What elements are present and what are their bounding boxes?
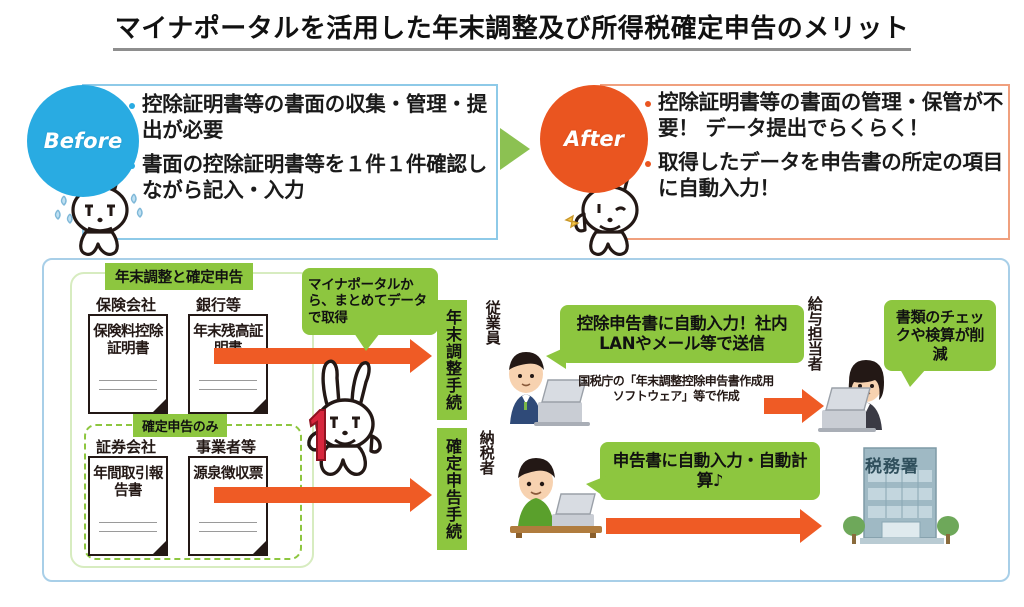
bubble-taxpayer: 申告書に自動入力・自動計算♪ bbox=[600, 442, 820, 500]
doc-lines bbox=[99, 514, 157, 532]
after-bullet-list: 控除証明書等の書面の管理・保管が不要！ データ提出でらくらく！ 取得したデータを… bbox=[644, 90, 1010, 211]
arrow-head-icon bbox=[800, 509, 822, 543]
note-nta-software: 国税庁の「年末調整控除申告書作成用ソフトウェア」等で作成 bbox=[578, 374, 774, 404]
bubble-payroll: 書類のチェックや検算が削減 bbox=[884, 300, 996, 371]
before-bullet-2: 書面の控除証明書等を１件１件確認しながら記入・入力 bbox=[128, 152, 500, 203]
document-withholding-slip-title: 源泉徴収票 bbox=[193, 466, 263, 482]
after-bullet-2: 取得したデータを申告書の所定の項目に自動入力！ bbox=[644, 150, 1010, 201]
doc-source-insurance: 保険会社 bbox=[96, 294, 156, 315]
taxpayer-illustration bbox=[496, 458, 606, 538]
before-badge: Before bbox=[27, 85, 139, 197]
track-label-final-return: 確定申告手続 bbox=[437, 428, 467, 550]
tax-office-label: 税務署 bbox=[846, 452, 938, 477]
track-label-year-end: 年末調整手続 bbox=[437, 300, 467, 420]
arrow-head-icon bbox=[410, 478, 432, 512]
doc-source-bank: 銀行等 bbox=[196, 294, 241, 315]
document-year-end-balance: 年末残高証明書 bbox=[188, 314, 268, 414]
bubble-tail bbox=[900, 369, 926, 387]
document-annual-transaction-report-title: 年間取引報告書 bbox=[93, 466, 163, 499]
rabbit-mascot-center-icon bbox=[292, 352, 396, 480]
doc-source-business: 事業者等 bbox=[196, 436, 256, 457]
doc-fold-icon bbox=[151, 397, 168, 414]
bubble-taxpayer-text: 申告書に自動入力・自動計算♪ bbox=[613, 451, 807, 490]
bubble-payroll-text: 書類のチェックや検算が削減 bbox=[896, 308, 984, 363]
bubble-tail bbox=[546, 347, 566, 369]
badge-final-return-only: 確定申告のみ bbox=[133, 414, 227, 437]
before-bullet-list: 控除証明書等の書面の収集・管理・提出が必要 書面の控除証明書等を１件１件確認しな… bbox=[128, 92, 500, 213]
arrow-bar bbox=[606, 518, 800, 534]
document-withholding-slip: 源泉徴収票 bbox=[188, 456, 268, 556]
document-insurance-deduction: 保険料控除証明書 bbox=[88, 314, 168, 414]
bubble-tail bbox=[586, 476, 606, 498]
arrow-bar bbox=[764, 398, 802, 414]
doc-lines bbox=[199, 514, 257, 532]
badge-year-end-and-final: 年末調整と確定申告 bbox=[105, 263, 253, 290]
doc-lines bbox=[199, 372, 257, 390]
role-label-taxpayer: 納税者 bbox=[478, 430, 494, 488]
bubble-employee-text: 控除申告書に自動入力！社内LANやメール等で送信 bbox=[577, 314, 788, 353]
bubble-tail bbox=[354, 333, 380, 351]
doc-fold-icon bbox=[251, 397, 268, 414]
role-label-employee: 従業員 bbox=[484, 300, 500, 358]
document-annual-transaction-report: 年間取引報告書 bbox=[88, 456, 168, 556]
doc-source-securities: 証券会社 bbox=[96, 436, 156, 457]
bubble-myna-portal: マイナポータルから、まとめてデータで取得 bbox=[302, 268, 438, 335]
bubble-myna-portal-text: マイナポータルから、まとめてデータで取得 bbox=[308, 277, 427, 326]
before-bullet-1: 控除証明書等の書面の収集・管理・提出が必要 bbox=[128, 92, 500, 143]
transition-arrow-icon bbox=[500, 128, 530, 170]
arrow-head-icon bbox=[410, 339, 432, 373]
bubble-employee: 控除申告書に自動入力！社内LANやメール等で送信 bbox=[560, 305, 804, 363]
document-insurance-deduction-title: 保険料控除証明書 bbox=[93, 324, 163, 357]
doc-fold-icon bbox=[151, 539, 168, 556]
doc-lines bbox=[99, 372, 157, 390]
page-title: マイナポータルを活用した年末調整及び所得税確定申告のメリット bbox=[0, 8, 1024, 51]
page-title-text: マイナポータルを活用した年末調整及び所得税確定申告のメリット bbox=[113, 8, 911, 51]
after-bullet-1: 控除証明書等の書面の管理・保管が不要！ データ提出でらくらく！ bbox=[644, 90, 1010, 141]
doc-fold-icon bbox=[251, 539, 268, 556]
arrow-bar bbox=[214, 487, 410, 503]
after-badge: After bbox=[540, 85, 648, 193]
infographic-canvas: マイナポータルを活用した年末調整及び所得税確定申告のメリット 控除証明書等の書面… bbox=[0, 0, 1024, 607]
